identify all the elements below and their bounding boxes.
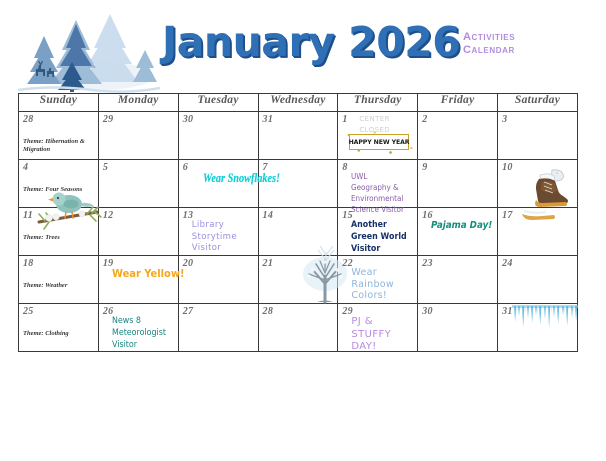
calendar-week-row: 11 Theme: Trees 12 13 Library Storytime … bbox=[19, 208, 578, 256]
calendar-grid: Sunday Monday Tuesday Wednesday Thursday… bbox=[18, 93, 578, 352]
event-library-storytime: Library Storytime Visitor bbox=[192, 220, 256, 255]
day-cell-13[interactable]: 13 Library Storytime Visitor bbox=[178, 208, 258, 256]
weekday-header-wednesday: Wednesday bbox=[258, 94, 338, 112]
day-cell-6[interactable]: 6 Wear Snowflakes! bbox=[178, 160, 258, 208]
winter-pine-trees-and-deer-icon bbox=[14, 2, 164, 94]
day-cell-25[interactable]: 25 Theme: Clothing bbox=[19, 304, 99, 352]
day-number: 31 bbox=[263, 114, 274, 125]
day-number: 30 bbox=[422, 306, 433, 317]
activities-label-line1: Activities bbox=[463, 31, 515, 44]
day-number: 27 bbox=[183, 306, 194, 317]
day-cell-31[interactable]: 31 bbox=[498, 304, 578, 352]
event-pajama-day: Pajama Day! bbox=[431, 220, 490, 231]
day-number: 10 bbox=[502, 162, 513, 173]
day-cell-10[interactable]: 10 bbox=[498, 160, 578, 208]
calendar-week-row: 25 Theme: Clothing 26 News 8 Meteorologi… bbox=[19, 304, 578, 352]
happy-new-year-banner: HAPPY NEW YEAR bbox=[349, 134, 409, 151]
weekday-header-tuesday: Tuesday bbox=[178, 94, 258, 112]
boot-sole-overflow-icon bbox=[518, 202, 558, 222]
day-cell-30[interactable]: 30 bbox=[418, 304, 498, 352]
day-number: 6 bbox=[183, 162, 188, 173]
day-cell-1[interactable]: 1 Center Closed HAPPY NEW YEAR bbox=[338, 112, 418, 160]
activities-calendar-label: Activities Calendar bbox=[463, 31, 515, 56]
icicles-icon bbox=[512, 305, 578, 333]
day-number: 7 bbox=[263, 162, 268, 173]
calendar-header: January 2026 Activities Calendar bbox=[0, 0, 606, 92]
day-theme-text: Theme: Weather bbox=[23, 282, 95, 290]
day-number: 21 bbox=[263, 258, 274, 269]
day-number: 9 bbox=[422, 162, 427, 173]
day-cell-2[interactable]: 2 bbox=[418, 112, 498, 160]
day-number: 20 bbox=[183, 258, 194, 269]
day-number: 29 bbox=[103, 114, 114, 125]
event-news8-meteorologist: News 8 Meteorologist Visitor bbox=[112, 315, 168, 351]
day-number: 30 bbox=[183, 114, 194, 125]
calendar-week-row: 28 Theme: Hibernation & Migration 29 30 … bbox=[19, 112, 578, 160]
day-number: 24 bbox=[502, 258, 513, 269]
day-number: 12 bbox=[103, 210, 114, 221]
day-cell-16[interactable]: 16 Pajama Day! bbox=[418, 208, 498, 256]
day-number: 8 bbox=[342, 162, 347, 173]
weekday-header-saturday: Saturday bbox=[498, 94, 578, 112]
event-wear-snowflakes: Wear Snowflakes! bbox=[203, 171, 246, 186]
day-cell-7[interactable]: 7 bbox=[258, 160, 338, 208]
day-number: 25 bbox=[23, 306, 34, 317]
day-number: 17 bbox=[502, 210, 513, 221]
banner-text: HAPPY NEW YEAR bbox=[349, 138, 410, 146]
day-cell-12[interactable]: 12 bbox=[98, 208, 178, 256]
weekday-header-friday: Friday bbox=[418, 94, 498, 112]
day-theme-text: Theme: Hibernation & Migration bbox=[23, 138, 95, 154]
day-number: 28 bbox=[263, 306, 274, 317]
day-cell-30-dec[interactable]: 30 bbox=[178, 112, 258, 160]
day-number: 23 bbox=[422, 258, 433, 269]
day-cell-17[interactable]: 17 bbox=[498, 208, 578, 256]
day-number: 11 bbox=[23, 210, 33, 221]
day-cell-29[interactable]: 29 PJ & STUFFY DAY! bbox=[338, 304, 418, 352]
day-cell-21[interactable]: 21 bbox=[258, 256, 338, 304]
day-cell-22[interactable]: 22 Wear Rainbow Colors! bbox=[338, 256, 418, 304]
day-number: 14 bbox=[263, 210, 274, 221]
day-cell-29-dec[interactable]: 29 bbox=[98, 112, 178, 160]
day-cell-8[interactable]: 8 UWL Geography & Environmental Science … bbox=[338, 160, 418, 208]
weekday-header-row: Sunday Monday Tuesday Wednesday Thursday… bbox=[19, 94, 578, 112]
day-cell-20[interactable]: 20 bbox=[178, 256, 258, 304]
day-number: 3 bbox=[502, 114, 507, 125]
day-number: 28 bbox=[23, 114, 34, 125]
day-theme-text: Theme: Clothing bbox=[23, 330, 95, 338]
day-cell-28-dec[interactable]: 28 Theme: Hibernation & Migration bbox=[19, 112, 99, 160]
page-title: January 2026 bbox=[162, 18, 460, 66]
calendar-week-row: 4 Theme: Four Seasons bbox=[19, 160, 578, 208]
day-theme-text: Theme: Trees bbox=[23, 234, 95, 242]
day-number: 5 bbox=[103, 162, 108, 173]
weekday-header-sunday: Sunday bbox=[19, 94, 99, 112]
day-number: 2 bbox=[422, 114, 427, 125]
day-cell-14[interactable]: 14 bbox=[258, 208, 338, 256]
weekday-header-thursday: Thursday bbox=[338, 94, 418, 112]
day-cell-26[interactable]: 26 News 8 Meteorologist Visitor bbox=[98, 304, 178, 352]
weekday-header-monday: Monday bbox=[98, 94, 178, 112]
banner-box: HAPPY NEW YEAR bbox=[349, 134, 409, 150]
event-wear-yellow: Wear Yellow! bbox=[112, 267, 169, 280]
event-pj-stuffy-day: PJ & STUFFY DAY! bbox=[351, 316, 415, 354]
event-wear-rainbow-colors: Wear Rainbow Colors! bbox=[351, 267, 415, 302]
event-another-green-world: Another Green World Visitor bbox=[351, 219, 407, 255]
day-cell-4[interactable]: 4 Theme: Four Seasons bbox=[19, 160, 99, 208]
day-cell-15[interactable]: 15 Another Green World Visitor bbox=[338, 208, 418, 256]
day-number: 4 bbox=[23, 162, 28, 173]
day-cell-11[interactable]: 11 Theme: Trees bbox=[19, 208, 99, 256]
day-cell-3[interactable]: 3 bbox=[498, 112, 578, 160]
calendar-week-row: 18 Theme: Weather 19 Wear Yellow! 20 21 bbox=[19, 256, 578, 304]
day-number: 18 bbox=[23, 258, 34, 269]
day-cell-27[interactable]: 27 bbox=[178, 304, 258, 352]
day-cell-28[interactable]: 28 bbox=[258, 304, 338, 352]
day-cell-19[interactable]: 19 Wear Yellow! bbox=[98, 256, 178, 304]
day-cell-5[interactable]: 5 bbox=[98, 160, 178, 208]
day-number: 1 bbox=[342, 114, 347, 125]
day-cell-31-dec[interactable]: 31 bbox=[258, 112, 338, 160]
day-cell-18[interactable]: 18 Theme: Weather bbox=[19, 256, 99, 304]
day-cell-24[interactable]: 24 bbox=[498, 256, 578, 304]
day-cell-23[interactable]: 23 bbox=[418, 256, 498, 304]
day-cell-9[interactable]: 9 bbox=[418, 160, 498, 208]
activities-label-line2: Calendar bbox=[463, 44, 515, 57]
